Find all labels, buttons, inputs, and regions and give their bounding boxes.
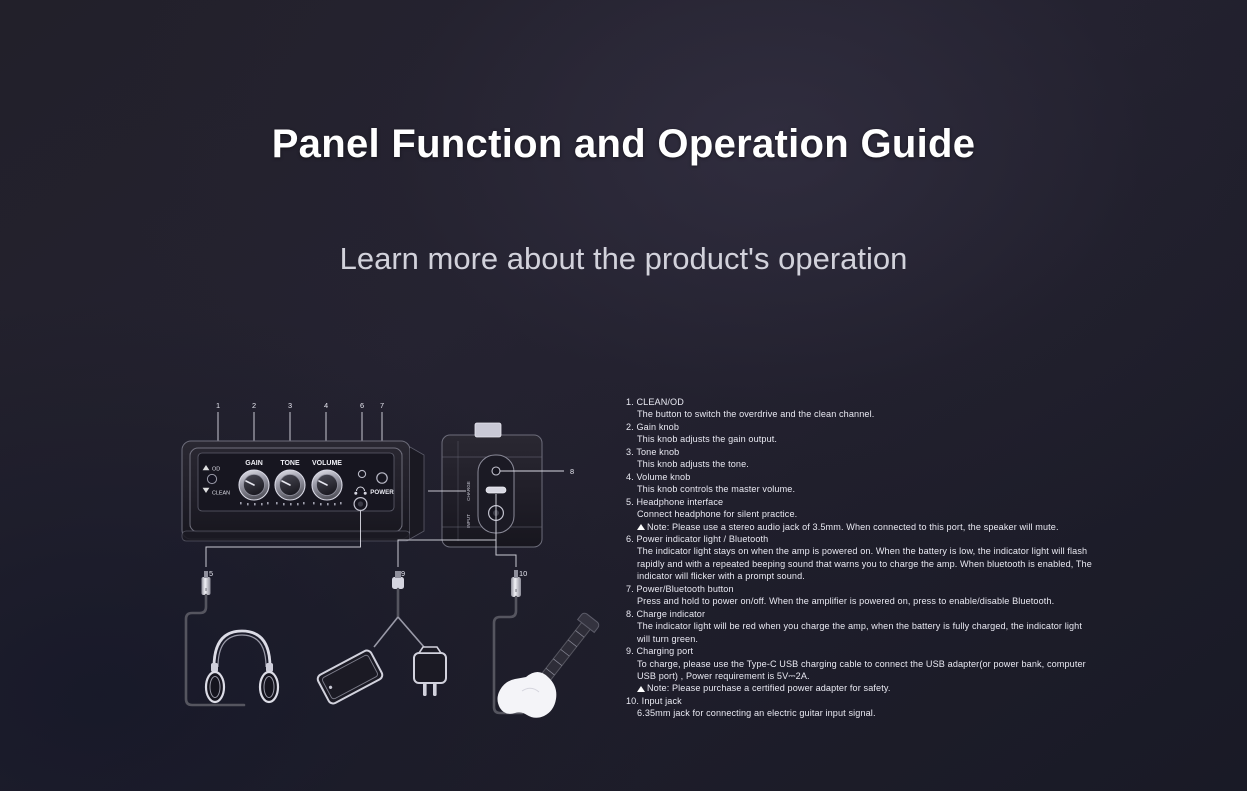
spec-line-6-0: The indicator light stays on when the am… xyxy=(626,545,1146,557)
product-diagram: 1 2 3 4 6 7 xyxy=(170,395,600,730)
spec-number-2: 2. xyxy=(626,422,634,432)
spec-line-3-0: This knob adjusts the tone. xyxy=(626,458,1146,470)
callout-8: 8 xyxy=(570,467,574,476)
callout-2: 2 xyxy=(252,401,256,410)
spec-title-10: Input jack xyxy=(642,696,682,706)
spec-number-10: 10. xyxy=(626,696,639,706)
usb-c-charging-port[interactable] xyxy=(486,487,506,493)
gain-label: GAIN xyxy=(245,460,263,467)
warning-triangle-icon xyxy=(637,524,645,530)
callout-5: 5 xyxy=(209,569,213,578)
spec-number-3: 3. xyxy=(626,447,634,457)
charging-accessories xyxy=(316,571,446,705)
spec-head-1: 1. CLEAN/OD xyxy=(626,396,1146,408)
callout-7: 7 xyxy=(380,401,384,410)
diagram-svg: 1 2 3 4 6 7 xyxy=(170,395,600,730)
spec-note-text-9: Note: Please purchase a certified power … xyxy=(647,683,890,693)
power-indicator-led xyxy=(358,470,365,477)
page-title: Panel Function and Operation Guide xyxy=(0,122,1247,167)
guitar-body xyxy=(498,672,557,718)
spec-number-6: 6. xyxy=(626,534,634,544)
spec-line-7-0: Press and hold to power on/off. When the… xyxy=(626,595,1146,607)
spec-item-7: 7. Power/Bluetooth button Press and hold… xyxy=(626,583,1146,608)
warning-triangle-icon xyxy=(637,686,645,692)
clean-label: CLEAN xyxy=(212,491,230,497)
wall-adapter-icon xyxy=(414,647,446,696)
callout-3: 3 xyxy=(288,401,292,410)
power-label: POWER xyxy=(370,489,394,496)
spec-item-4: 4. Volume knob This knob controls the ma… xyxy=(626,471,1146,496)
callout-1: 1 xyxy=(216,401,220,410)
clean-od-button[interactable] xyxy=(207,474,216,483)
spec-line-10-0: 6.35mm jack for connecting an electric g… xyxy=(626,707,1146,719)
spec-title-5: Headphone interface xyxy=(636,497,723,507)
charge-side-label: CHARGE xyxy=(466,481,471,501)
spec-head-2: 2. Gain knob xyxy=(626,421,1146,433)
tone-label: TONE xyxy=(280,460,300,467)
spec-line-8-1: will turn green. xyxy=(626,633,1146,645)
callout-numbers-bottom: 5 9 10 xyxy=(209,569,527,578)
spec-head-4: 4. Volume knob xyxy=(626,471,1146,483)
callout-10: 10 xyxy=(519,569,527,578)
spec-number-4: 4. xyxy=(626,472,634,482)
spec-title-2: Gain knob xyxy=(636,422,679,432)
callout-9: 9 xyxy=(401,569,405,578)
spec-line-5-0: Connect headphone for silent practice. xyxy=(626,508,1146,520)
spec-number-7: 7. xyxy=(626,584,634,594)
spec-note-9: Note: Please purchase a certified power … xyxy=(626,682,1146,694)
spec-head-8: 8. Charge indicator xyxy=(626,608,1146,620)
charge-indicator-led xyxy=(492,467,500,475)
spec-title-7: Power/Bluetooth button xyxy=(636,584,733,594)
slide-root: Panel Function and Operation Guide Learn… xyxy=(0,0,1247,791)
spec-number-8: 8. xyxy=(626,609,634,619)
spec-title-9: Charging port xyxy=(636,646,693,656)
spec-item-10: 10. Input jack 6.35mm jack for connectin… xyxy=(626,695,1146,720)
od-label: OD xyxy=(212,467,220,473)
spec-title-1: CLEAN/OD xyxy=(636,397,683,407)
spec-line-8-0: The indicator light will be red when you… xyxy=(626,620,1146,632)
spec-item-9: 9. Charging port To charge, please use t… xyxy=(626,645,1146,695)
spec-head-10: 10. Input jack xyxy=(626,695,1146,707)
spec-title-6: Power indicator light / Bluetooth xyxy=(636,534,768,544)
callout-numbers-top: 1 2 3 4 6 7 xyxy=(216,401,384,410)
spec-item-1: 1. CLEAN/OD The button to switch the ove… xyxy=(626,396,1146,421)
spec-note-text-5: Note: Please use a stereo audio jack of … xyxy=(647,522,1059,532)
guitar-accessory xyxy=(494,570,600,718)
spec-note-5: Note: Please use a stereo audio jack of … xyxy=(626,521,1146,533)
spec-item-5: 5. Headphone interface Connect headphone… xyxy=(626,496,1146,533)
top-nub xyxy=(475,423,501,437)
spec-line-6-2: indicator will flicker with a prompt sou… xyxy=(626,570,1146,582)
spec-item-6: 6. Power indicator light / Bluetooth The… xyxy=(626,533,1146,583)
spec-title-4: Volume knob xyxy=(636,472,690,482)
spec-head-9: 9. Charging port xyxy=(626,645,1146,657)
spec-title-3: Tone knob xyxy=(636,447,679,457)
callout-6: 6 xyxy=(360,401,364,410)
volume-label: VOLUME xyxy=(312,460,342,467)
page-subtitle: Learn more about the product's operation xyxy=(0,241,1247,277)
spec-line-9-1: USB port) , Power requirement is 5V⎓2A. xyxy=(626,670,1146,682)
spec-line-2-0: This knob adjusts the gain output. xyxy=(626,433,1146,445)
spec-line-6-1: rapidly and with a repeated beeping soun… xyxy=(626,558,1146,570)
spec-line-1-0: The button to switch the overdrive and t… xyxy=(626,408,1146,420)
spec-item-2: 2. Gain knob This knob adjusts the gain … xyxy=(626,421,1146,446)
amp-side-body xyxy=(442,423,542,547)
headphones-accessory xyxy=(186,571,278,705)
spec-title-8: Charge indicator xyxy=(636,609,705,619)
spec-head-3: 3. Tone knob xyxy=(626,446,1146,458)
spec-item-8: 8. Charge indicator The indicator light … xyxy=(626,608,1146,645)
spec-head-6: 6. Power indicator light / Bluetooth xyxy=(626,533,1146,545)
spec-number-1: 1. xyxy=(626,397,634,407)
spec-number-5: 5. xyxy=(626,497,634,507)
spec-head-5: 5. Headphone interface xyxy=(626,496,1146,508)
spec-line-9-0: To charge, please use the Type-C USB cha… xyxy=(626,658,1146,670)
power-button[interactable] xyxy=(377,473,387,483)
spec-line-4-0: This knob controls the master volume. xyxy=(626,483,1146,495)
input-side-label: INPUT xyxy=(466,514,471,528)
spec-head-7: 7. Power/Bluetooth button xyxy=(626,583,1146,595)
specification-list: 1. CLEAN/OD The button to switch the ove… xyxy=(626,396,1146,720)
callout-4: 4 xyxy=(324,401,328,410)
spec-number-9: 9. xyxy=(626,646,634,656)
power-bank-icon xyxy=(316,649,384,705)
spec-item-3: 3. Tone knob This knob adjusts the tone. xyxy=(626,446,1146,471)
